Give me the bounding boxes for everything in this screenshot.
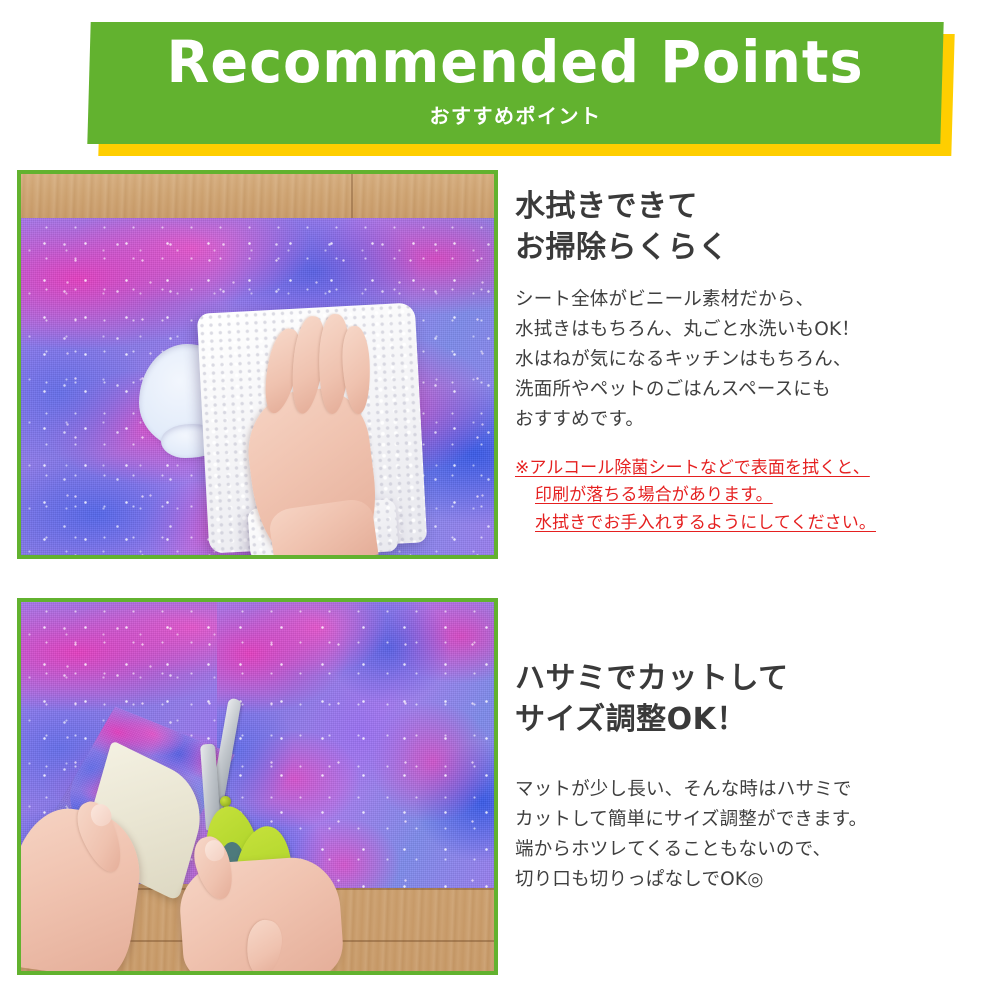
wooden-floor [21, 174, 494, 220]
heading-line-1: ハサミでカットして [515, 658, 985, 699]
section-note-water-wipe: ※アルコール除菌シートなどで表面を拭くと、 印刷が落ちる場合があります。 水拭き… [515, 455, 985, 538]
body-line: カットして簡単にサイズ調整ができます。 [515, 805, 985, 835]
feature-section-scissors-cut: ハサミでカットして サイズ調整OK！ マットが少し長い、そんな時はハサミで カッ… [0, 596, 1000, 986]
body-line: 水はねが気になるキッチンはもちろん、 [515, 345, 985, 375]
photo-water-wipe [17, 170, 498, 559]
body-line: 切り口も切りっぱなしでOK◎ [515, 865, 985, 895]
body-line: マットが少し長い、そんな時はハサミで [515, 775, 985, 805]
text-block-water-wipe: 水拭きできて お掃除らくらく シート全体がビニール素材だから、 水拭きはもちろん… [515, 186, 985, 537]
section-body-scissors-cut: マットが少し長い、そんな時はハサミで カットして簡単にサイズ調整ができます。 端… [515, 775, 985, 895]
heading-line-2: サイズ調整OK！ [515, 699, 985, 740]
feature-section-water-wipe: 水拭きできて お掃除らくらく シート全体がビニール素材だから、 水拭きはもちろん… [0, 166, 1000, 566]
product-feature-page: Recommended Points おすすめポイント [0, 0, 1000, 1000]
note-line: 印刷が落ちる場合があります。 [535, 482, 985, 510]
header-banner: Recommended Points おすすめポイント [0, 0, 1000, 168]
body-line: 水拭きはもちろん、丸ごと水洗いもOK！ [515, 315, 985, 345]
note-line: 水拭きでお手入れするようにしてください。 [535, 510, 985, 538]
text-block-scissors-cut: ハサミでカットして サイズ調整OK！ マットが少し長い、そんな時はハサミで カッ… [515, 658, 985, 895]
floor-seam-vertical [351, 174, 353, 220]
note-line: ※アルコール除菌シートなどで表面を拭くと、 [515, 455, 985, 483]
heading-line-2: お掃除らくらく [515, 227, 985, 268]
body-line: 洗面所やペットのごはんスペースにも [515, 375, 985, 405]
section-heading-water-wipe: 水拭きできて お掃除らくらく [515, 186, 985, 269]
page-subtitle: おすすめポイント [430, 100, 602, 129]
body-line: 端からホツレてくることもないので、 [515, 835, 985, 865]
photo-scissors-cut [17, 598, 498, 975]
section-body-water-wipe: シート全体がビニール素材だから、 水拭きはもちろん、丸ごと水洗いもOK！ 水はね… [515, 285, 985, 435]
body-line: シート全体がビニール素材だから、 [515, 285, 985, 315]
body-line: おすすめです。 [515, 405, 985, 435]
heading-line-1: 水拭きできて [515, 186, 985, 227]
page-title: Recommended Points [167, 27, 864, 98]
banner-text-group: Recommended Points おすすめポイント [89, 22, 942, 144]
section-heading-scissors-cut: ハサミでカットして サイズ調整OK！ [515, 658, 985, 741]
